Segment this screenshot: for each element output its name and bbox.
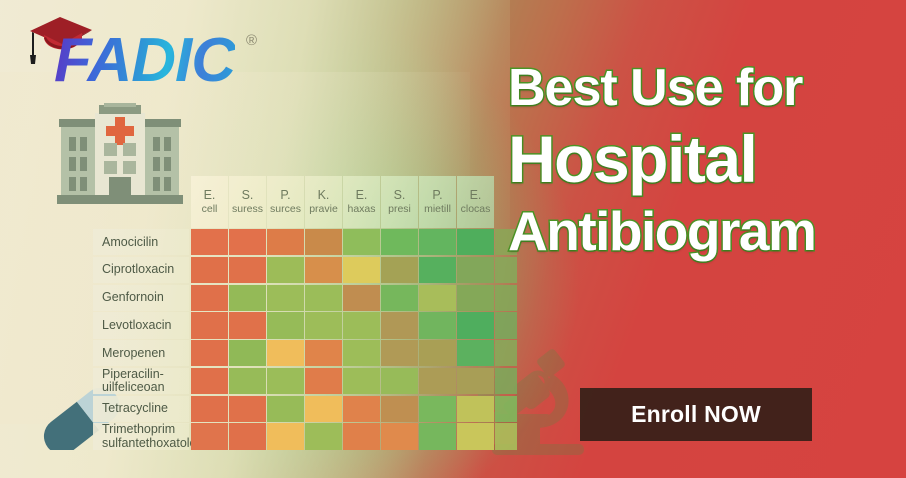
heatmap-cell[interactable]: [305, 340, 342, 366]
heatmap-cell[interactable]: [343, 423, 380, 449]
heatmap-cell[interactable]: [419, 257, 456, 283]
heatmap-cell[interactable]: [495, 423, 517, 449]
heatmap-col-header-2: P.surces: [267, 176, 304, 228]
heatmap-row: Amocicilin: [93, 229, 518, 255]
heatmap-cell[interactable]: [495, 368, 517, 394]
heatmap-cell[interactable]: [267, 312, 304, 338]
col-header-species: suress: [232, 203, 263, 216]
heatmap-cell[interactable]: [191, 229, 228, 255]
heatmap-row-label: Tetracycline: [93, 396, 189, 422]
heatmap-row-label: Genfornoin: [93, 285, 189, 311]
poster-canvas: FADIC ®: [0, 0, 906, 478]
heatmap-row: Meropenen: [93, 340, 518, 366]
heatmap-cell[interactable]: [495, 285, 517, 311]
heatmap-cell[interactable]: [419, 396, 456, 422]
col-header-species: presi: [388, 203, 411, 216]
heatmap-cell[interactable]: [419, 285, 456, 311]
headline-line-3: Antibiogram: [508, 204, 900, 259]
heatmap-cell[interactable]: [191, 423, 228, 449]
heatmap-cell[interactable]: [191, 368, 228, 394]
heatmap-cell[interactable]: [191, 285, 228, 311]
heatmap-cell[interactable]: [495, 340, 517, 366]
heatmap-cell[interactable]: [305, 257, 342, 283]
heatmap-cell[interactable]: [419, 340, 456, 366]
heatmap-cell[interactable]: [457, 229, 494, 255]
heatmap-row-label: Amocicilin: [93, 229, 189, 255]
row-label-line-2: uilfeliceoan: [102, 381, 165, 394]
heatmap-rows: AmocicilinCiprotloxacinGenfornoinLevotlo…: [93, 229, 518, 451]
heatmap-cell[interactable]: [419, 368, 456, 394]
heatmap-cell[interactable]: [267, 423, 304, 449]
heatmap-row-cells: [191, 368, 518, 394]
col-header-species: surces: [270, 203, 301, 216]
col-header-species: clocas: [461, 203, 491, 216]
col-header-species: cell: [202, 203, 218, 216]
heatmap-row-cells: [191, 340, 518, 366]
heatmap-row-label: Levotloxacin: [93, 312, 189, 338]
heatmap-col-header-4: E.haxas: [343, 176, 380, 228]
heatmap-cell[interactable]: [343, 229, 380, 255]
heatmap-cell[interactable]: [457, 340, 494, 366]
heatmap-row-label: Piperacilin-uilfeliceoan: [93, 368, 189, 394]
col-header-genus: S.: [242, 188, 254, 204]
heatmap-row: Levotloxacin: [93, 312, 518, 338]
heatmap-cell[interactable]: [229, 368, 266, 394]
heatmap-cell[interactable]: [457, 257, 494, 283]
heatmap-cell[interactable]: [381, 396, 418, 422]
heatmap-cell[interactable]: [305, 368, 342, 394]
heatmap-cell[interactable]: [229, 396, 266, 422]
col-header-species: haxas: [347, 203, 375, 216]
heatmap-cell[interactable]: [305, 312, 342, 338]
col-header-genus: E.: [470, 188, 482, 204]
heatmap-cell[interactable]: [419, 312, 456, 338]
heatmap-cell[interactable]: [305, 423, 342, 449]
heatmap-row: Piperacilin-uilfeliceoan: [93, 368, 518, 394]
registered-mark: ®: [246, 32, 257, 49]
heatmap-cell[interactable]: [267, 257, 304, 283]
enroll-now-label: Enroll NOW: [631, 401, 761, 428]
heatmap-cell[interactable]: [229, 423, 266, 449]
heatmap-cell[interactable]: [229, 312, 266, 338]
heatmap-cell[interactable]: [381, 368, 418, 394]
row-label-line-1: Trimethoprim: [102, 423, 175, 436]
col-header-genus: K.: [318, 188, 330, 204]
heatmap-cell[interactable]: [343, 285, 380, 311]
heatmap-row-label: Ciprotloxacin: [93, 257, 189, 283]
heatmap-cell[interactable]: [381, 285, 418, 311]
heatmap-row: Trimethoprimsulfantethoxatole: [93, 423, 518, 449]
heatmap-row-cells: [191, 257, 518, 283]
heatmap-cell[interactable]: [229, 229, 266, 255]
heatmap-cell[interactable]: [419, 229, 456, 255]
heatmap-cell[interactable]: [229, 340, 266, 366]
heatmap-column-headers: E.cellS.suressP.surcesK.pravieE.haxasS.p…: [191, 176, 495, 228]
heatmap-row-label: Meropenen: [93, 340, 189, 366]
col-header-genus: S.: [394, 188, 406, 204]
heatmap-cell[interactable]: [267, 229, 304, 255]
col-header-genus: P.: [280, 188, 290, 204]
headline-line-2: Hospital: [508, 126, 900, 192]
col-header-genus: E.: [204, 188, 216, 204]
heatmap-cell[interactable]: [191, 257, 228, 283]
heatmap-cell[interactable]: [457, 368, 494, 394]
heatmap-cell[interactable]: [457, 285, 494, 311]
heatmap-row-cells: [191, 312, 518, 338]
heatmap-cell[interactable]: [457, 396, 494, 422]
heatmap-col-header-6: P.mietill: [419, 176, 456, 228]
heatmap-cell[interactable]: [191, 312, 228, 338]
heatmap-cell[interactable]: [381, 257, 418, 283]
heatmap-cell[interactable]: [343, 396, 380, 422]
row-label-line-2: sulfantethoxatole: [102, 437, 197, 450]
heatmap-row-label: Trimethoprimsulfantethoxatole: [93, 423, 189, 449]
heatmap-cell[interactable]: [229, 285, 266, 311]
heatmap-row: Ciprotloxacin: [93, 257, 518, 283]
heatmap-cell[interactable]: [305, 396, 342, 422]
col-header-genus: P.: [432, 188, 442, 204]
heatmap-col-header-7: E.clocas: [457, 176, 494, 228]
heatmap-cell[interactable]: [305, 229, 342, 255]
col-header-species: pravie: [309, 203, 338, 216]
heatmap-row-cells: [191, 423, 518, 449]
heatmap-cell[interactable]: [267, 368, 304, 394]
heatmap-cell[interactable]: [495, 312, 517, 338]
heatmap-cell[interactable]: [381, 312, 418, 338]
heatmap-cell[interactable]: [381, 229, 418, 255]
col-header-genus: E.: [356, 188, 368, 204]
heatmap-col-header-3: K.pravie: [305, 176, 342, 228]
heatmap-cell[interactable]: [229, 257, 266, 283]
heatmap-row: Genfornoin: [93, 285, 518, 311]
heatmap-row-cells: [191, 285, 518, 311]
heatmap-row: Tetracycline: [93, 396, 518, 422]
heatmap-cell[interactable]: [267, 396, 304, 422]
heatmap-cell[interactable]: [343, 368, 380, 394]
heatmap-cell[interactable]: [381, 423, 418, 449]
heatmap-cell[interactable]: [343, 312, 380, 338]
heatmap-cell[interactable]: [343, 340, 380, 366]
heatmap-row-cells: [191, 229, 518, 255]
heatmap-cell[interactable]: [267, 340, 304, 366]
heatmap-cell[interactable]: [305, 285, 342, 311]
heatmap-cell[interactable]: [343, 257, 380, 283]
heatmap-col-header-1: S.suress: [229, 176, 266, 228]
headline-line-1: Best Use for: [508, 62, 900, 114]
fadic-logo[interactable]: FADIC ®: [18, 14, 268, 92]
fadic-wordmark: FADIC: [54, 30, 235, 92]
col-header-species: mietill: [424, 203, 451, 216]
heatmap-cell[interactable]: [457, 312, 494, 338]
heatmap-cell[interactable]: [267, 285, 304, 311]
antibiogram-heatmap: E.cellS.suressP.surcesK.pravieE.haxasS.p…: [93, 176, 513, 443]
heatmap-row-cells: [191, 396, 518, 422]
heatmap-cell[interactable]: [495, 396, 517, 422]
heatmap-cell[interactable]: [419, 423, 456, 449]
heatmap-col-header-0: E.cell: [191, 176, 228, 228]
heatmap-cell[interactable]: [457, 423, 494, 449]
heatmap-cell[interactable]: [191, 340, 228, 366]
heatmap-cell[interactable]: [381, 340, 418, 366]
heatmap-col-header-5: S.presi: [381, 176, 418, 228]
enroll-now-button[interactable]: Enroll NOW: [580, 388, 812, 441]
heatmap-cell[interactable]: [191, 396, 228, 422]
headline-block: Best Use for Hospital Antibiogram: [508, 62, 900, 259]
